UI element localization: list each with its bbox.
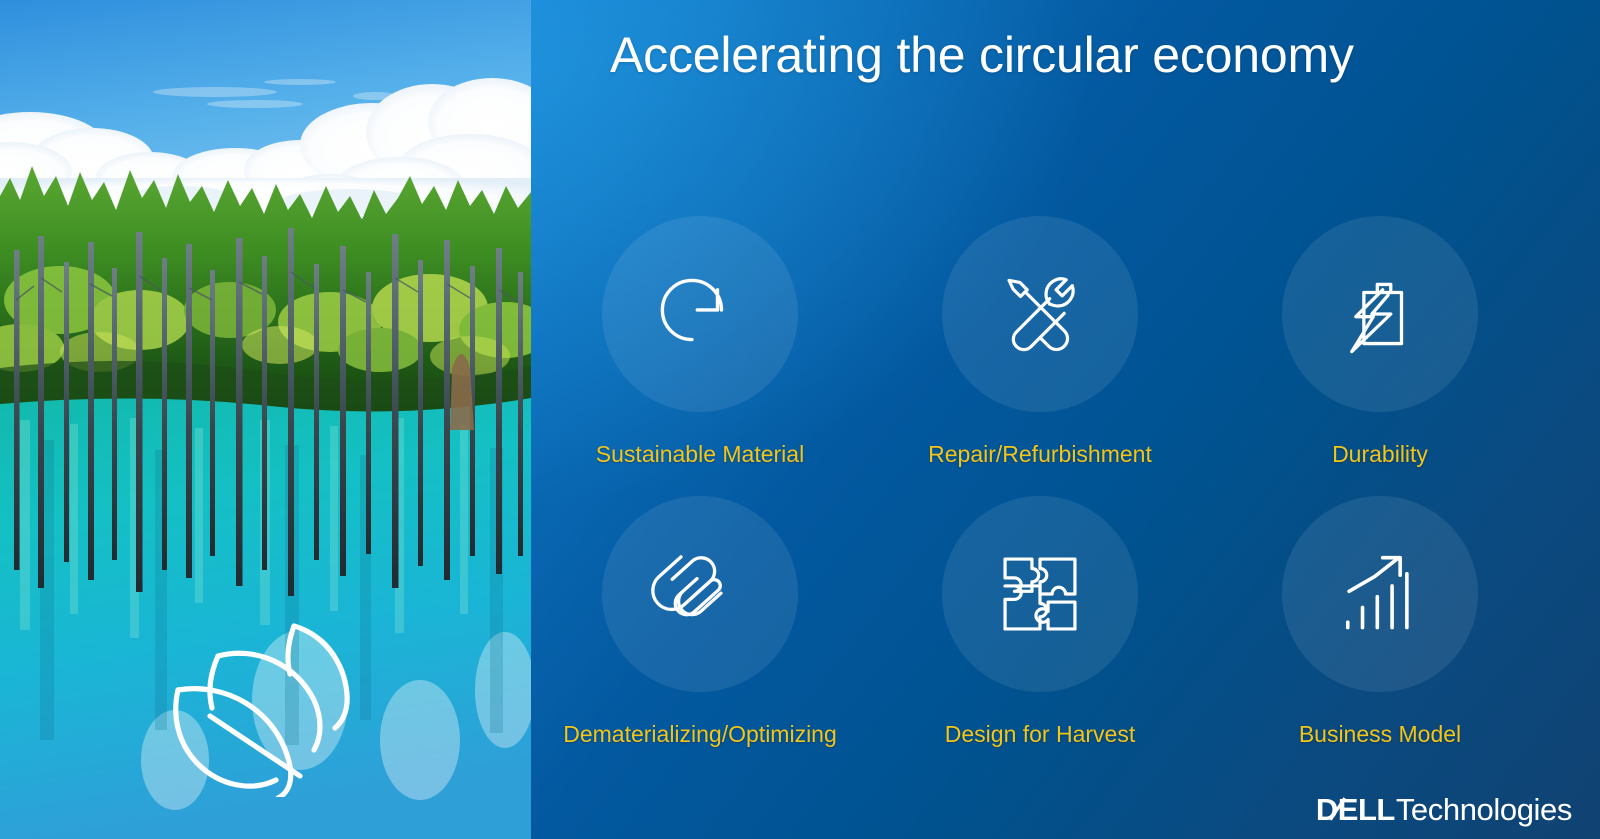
slide-root: Accelerating the circular economy Sustai…: [0, 0, 1600, 839]
icon-grid: Sustainable Material: [531, 216, 1600, 776]
card-dematerializing-optimizing[interactable]: Dematerializing/Optimizing: [550, 496, 850, 749]
icon-bubble[interactable]: [1282, 216, 1478, 412]
icon-bubble[interactable]: [942, 496, 1138, 692]
icon-bubble[interactable]: [942, 216, 1138, 412]
icon-bubble[interactable]: [1282, 496, 1478, 692]
paperclip-icon: [657, 551, 743, 637]
icon-grid-row-1: Sustainable Material: [531, 216, 1600, 496]
card-durability[interactable]: Durability: [1230, 216, 1530, 469]
card-label: Durability: [1230, 441, 1530, 469]
wrench-screwdriver-icon: [997, 271, 1083, 357]
card-label: Sustainable Material: [550, 441, 850, 469]
icon-bubble[interactable]: [602, 496, 798, 692]
card-sustainable-material[interactable]: Sustainable Material: [550, 216, 850, 469]
card-repair-refurbishment[interactable]: Repair/Refurbishment: [890, 216, 1190, 469]
dell-technologies-logo: DELL Technologies: [1316, 794, 1572, 825]
hero-photo: [0, 0, 531, 839]
card-design-for-harvest[interactable]: Design for Harvest: [890, 496, 1190, 749]
battery-lightning-icon: [1337, 271, 1423, 357]
refresh-circular-arrow-icon: [657, 271, 743, 357]
blue-pond-illustration: [0, 0, 531, 839]
dell-wordmark: DELL: [1316, 794, 1395, 825]
icon-grid-row-2: Dematerializing/Optimizing: [531, 496, 1600, 776]
card-label: Design for Harvest: [890, 721, 1190, 749]
card-label: Repair/Refurbishment: [890, 441, 1190, 469]
puzzle-pieces-icon: [997, 551, 1083, 637]
dell-mark-text: DELL: [1316, 792, 1395, 827]
content-panel: Accelerating the circular economy Sustai…: [531, 0, 1600, 839]
icon-bubble[interactable]: [602, 216, 798, 412]
card-label: Business Model: [1230, 721, 1530, 749]
growth-bar-chart-arrow-icon: [1337, 551, 1423, 637]
page-title: Accelerating the circular economy: [610, 22, 1370, 89]
card-business-model[interactable]: Business Model: [1230, 496, 1530, 749]
technologies-wordmark: Technologies: [1396, 794, 1572, 825]
card-label: Dematerializing/Optimizing: [550, 721, 850, 749]
